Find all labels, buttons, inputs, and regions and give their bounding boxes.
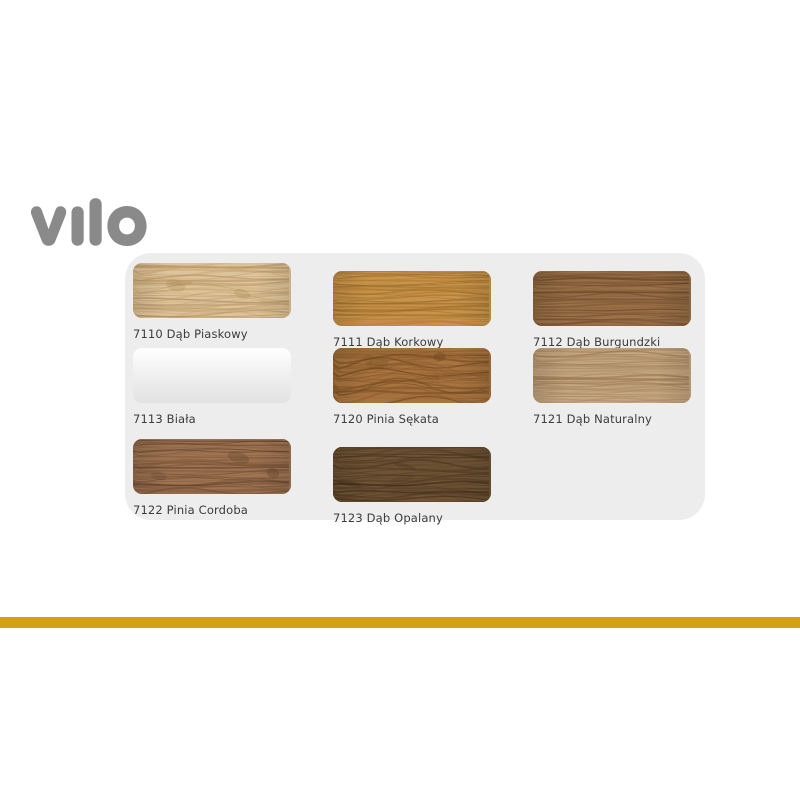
wood-grain-7123 [333,447,491,502]
swatch-chip-7113[interactable] [133,348,291,403]
swatch-cell-7110[interactable]: 7110 Dąb Piaskowy [133,263,291,341]
swatch-chip-7110[interactable] [133,263,291,318]
swatch-label-7121: 7121 Dąb Naturalny [533,412,691,426]
swatch-chip-7122[interactable] [133,439,291,494]
swatch-cell-7122[interactable]: 7122 Pinia Cordoba [133,439,291,517]
wood-grain-7110 [133,263,291,318]
wood-grain-7122 [133,439,291,494]
wood-grain-7112 [533,271,691,326]
swatch-cell-7123[interactable]: 7123 Dąb Opalany [333,447,491,525]
swatch-cell-7121[interactable]: 7121 Dąb Naturalny [533,348,691,426]
wood-grain-7113 [133,348,291,403]
swatch-label-7112: 7112 Dąb Burgundzki [533,335,691,349]
colour-swatch-panel: 7110 Dąb Piaskowy7111 Dąb Korkowy7112 Dą… [125,253,705,520]
swatch-label-7110: 7110 Dąb Piaskowy [133,327,291,341]
swatch-chip-7123[interactable] [333,447,491,502]
swatch-cell-7111[interactable]: 7111 Dąb Korkowy [333,271,491,349]
gold-accent-bar [0,617,800,628]
swatch-chip-7121[interactable] [533,348,691,403]
swatch-label-7123: 7123 Dąb Opalany [333,511,491,525]
swatch-cell-7112[interactable]: 7112 Dąb Burgundzki [533,271,691,349]
swatch-grid: 7110 Dąb Piaskowy7111 Dąb Korkowy7112 Dą… [125,253,705,520]
swatch-chip-7111[interactable] [333,271,491,326]
swatch-chip-7112[interactable] [533,271,691,326]
swatch-chip-7120[interactable] [333,348,491,403]
swatch-label-7111: 7111 Dąb Korkowy [333,335,491,349]
swatch-label-7122: 7122 Pinia Cordoba [133,503,291,517]
swatch-label-7113: 7113 Biała [133,412,291,426]
swatch-label-7120: 7120 Pinia Sękata [333,412,491,426]
vilo-wordmark-icon [28,198,148,256]
swatch-cell-7120[interactable]: 7120 Pinia Sękata [333,348,491,426]
wood-grain-7111 [333,271,491,326]
wood-grain-7120 [333,348,491,403]
wood-grain-7121 [533,348,691,403]
vilo-logo [28,198,148,256]
swatch-cell-7113[interactable]: 7113 Biała [133,348,291,426]
